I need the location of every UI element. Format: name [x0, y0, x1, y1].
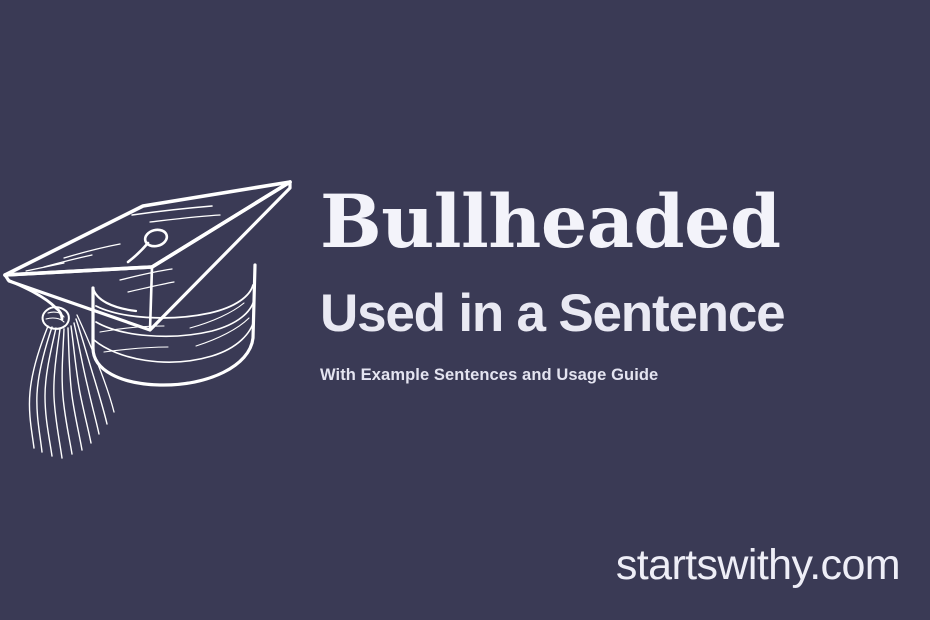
headline: Used in a Sentence — [320, 259, 920, 340]
text-block: Bullheaded Used in a Sentence With Examp… — [320, 186, 920, 384]
graduation-cap-icon — [0, 170, 310, 460]
page-title: Bullheaded — [320, 186, 920, 259]
site-domain: startswithy.com — [616, 544, 900, 587]
tagline: With Example Sentences and Usage Guide — [320, 340, 920, 384]
word-card: Bullheaded Used in a Sentence With Examp… — [0, 0, 930, 620]
